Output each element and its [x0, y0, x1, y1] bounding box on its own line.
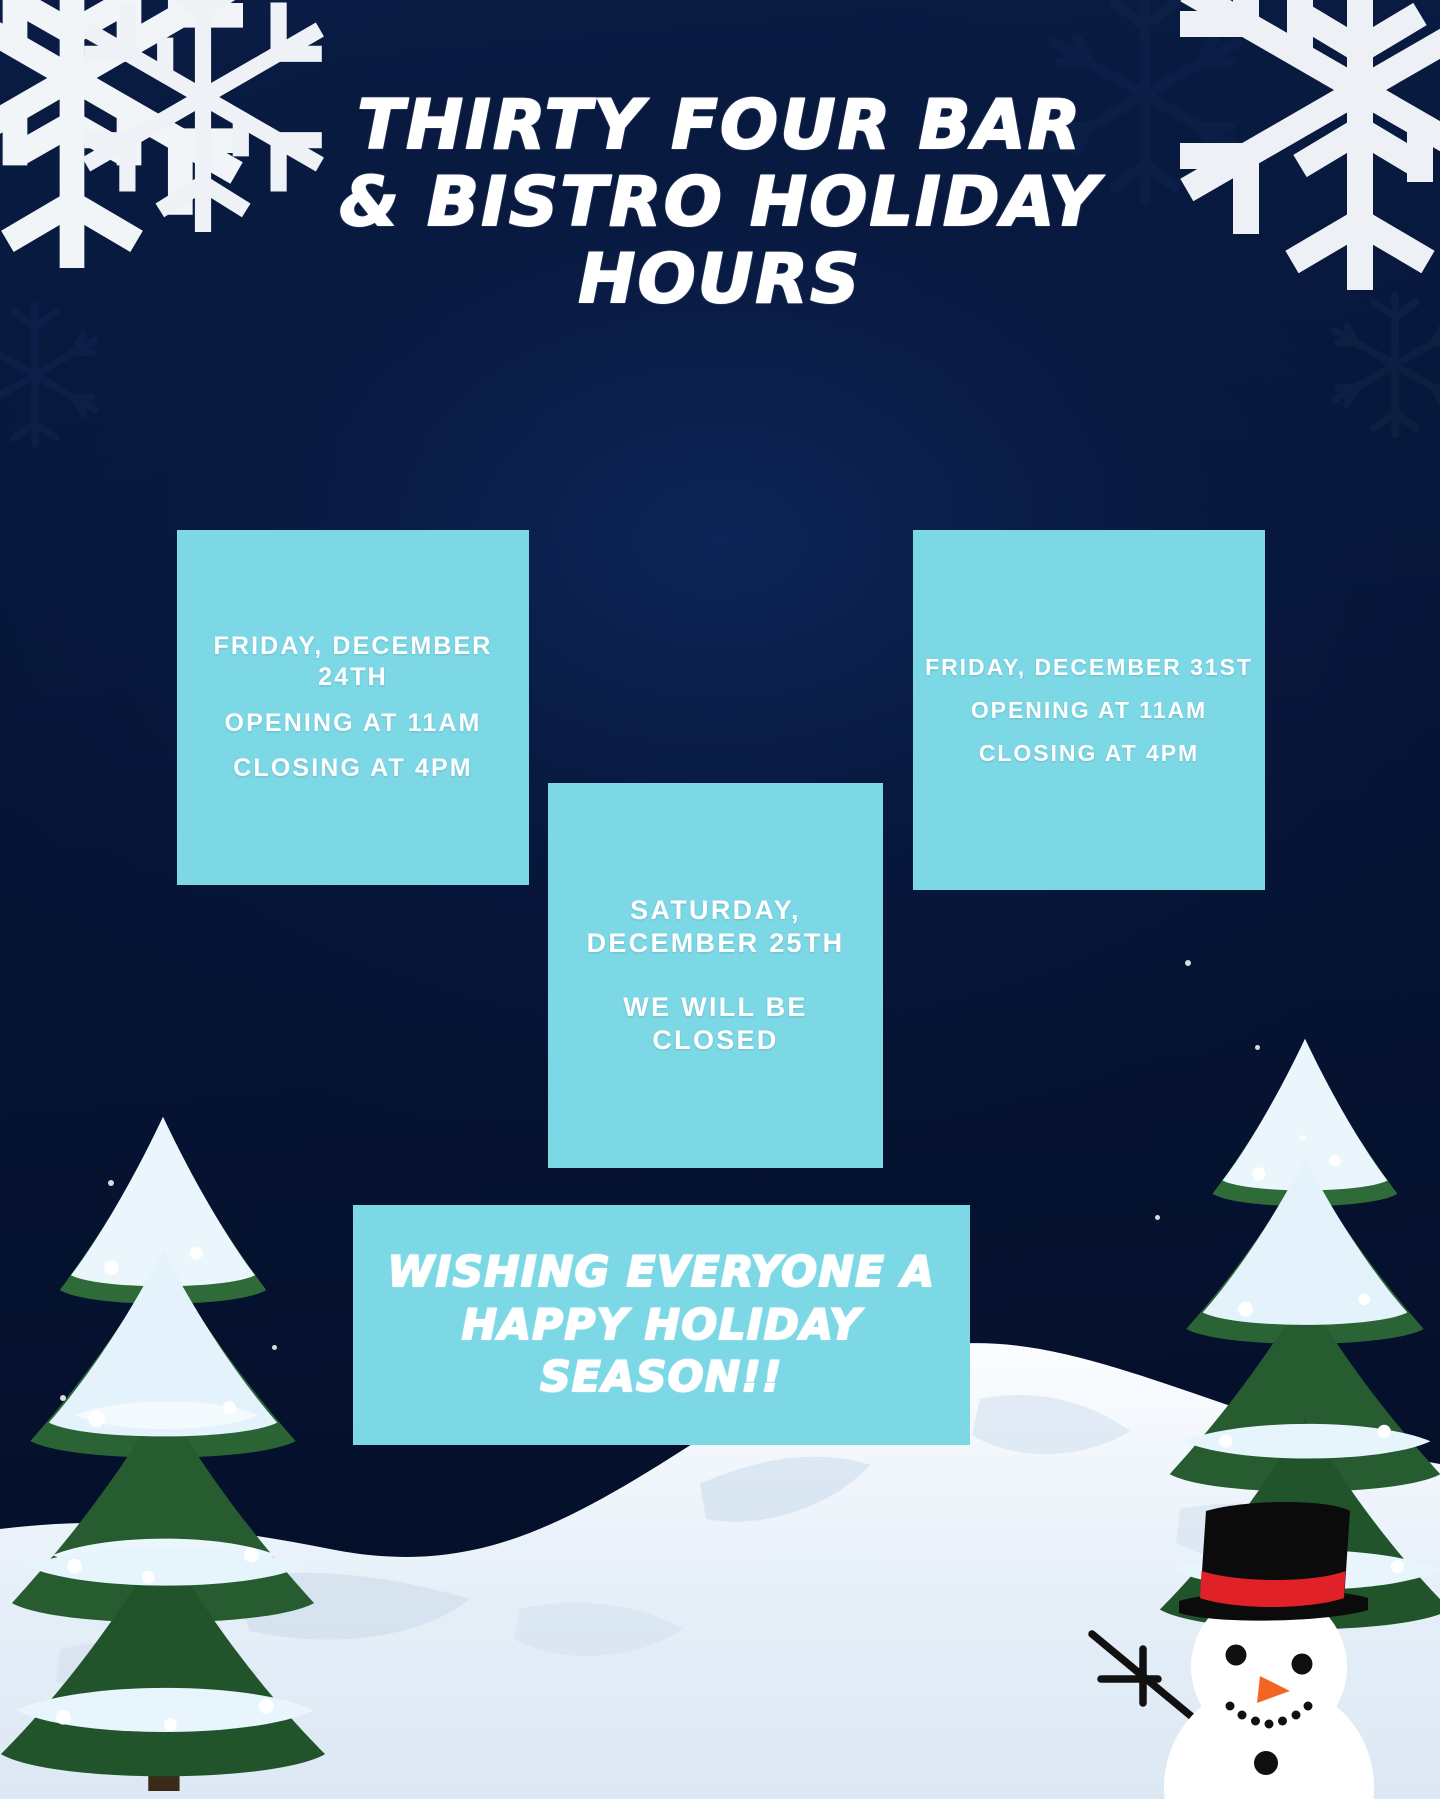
- card-status-label-line-2: Closed: [652, 1024, 778, 1057]
- wish-line-2: Happy Holiday: [462, 1299, 862, 1352]
- holiday-wish-card: Wishing Everyone a Happy Holiday Season!…: [353, 1205, 970, 1445]
- snow-speck: [1185, 960, 1191, 966]
- card-date-label: Friday, December 24th: [177, 631, 529, 692]
- page-title-line-3: Hours: [120, 242, 1320, 319]
- hours-card-december-24: Friday, December 24th Opening at 11AM Cl…: [177, 530, 529, 885]
- snowman-eye-right-icon: [1292, 1654, 1313, 1675]
- snowman-button-top-icon: [1254, 1751, 1278, 1775]
- page-title-line-1: Thirty Four Bar: [120, 88, 1320, 165]
- card-status-label-line-1: We Will Be: [623, 991, 807, 1024]
- pine-tree-left-icon: [0, 1091, 348, 1791]
- snowman-eye-left-icon: [1226, 1645, 1247, 1666]
- ghost-snowflake-left-icon: [0, 300, 110, 450]
- snow-speck: [108, 1180, 114, 1186]
- hours-card-december-25: Saturday, December 25th We Will Be Close…: [548, 783, 883, 1168]
- snow-speck: [1255, 1045, 1260, 1050]
- card-date-label-line-2: December 25th: [587, 927, 845, 960]
- page-title: Thirty Four Bar & Bistro Holiday Hours: [0, 88, 1440, 318]
- snowman-arm-icon: [1092, 1634, 1197, 1721]
- snow-speck: [60, 1395, 66, 1401]
- card-closing-label: Closing at 4PM: [979, 739, 1199, 767]
- card-closing-label: Closing at 4PM: [233, 753, 472, 784]
- snow-speck: [1300, 1135, 1306, 1141]
- hours-card-december-31: Friday, December 31st Opening at 11AM Cl…: [913, 530, 1265, 890]
- snowman-icon: [1080, 1439, 1410, 1799]
- page-title-line-2: & Bistro Holiday: [120, 165, 1320, 242]
- card-opening-label: Opening at 11AM: [971, 696, 1207, 724]
- card-opening-label: Opening at 11AM: [225, 708, 482, 739]
- card-date-label-line-1: Saturday,: [630, 894, 801, 927]
- snowman-hat-icon: [1179, 1502, 1368, 1621]
- card-date-label: Friday, December 31st: [925, 653, 1253, 681]
- wish-line-1: Wishing Everyone a: [388, 1246, 936, 1299]
- snow-speck: [1155, 1215, 1160, 1220]
- wish-line-3: Season!!: [540, 1351, 783, 1404]
- snow-speck: [272, 1345, 277, 1350]
- holiday-hours-poster: Thirty Four Bar & Bistro Holiday Hours: [0, 0, 1440, 1799]
